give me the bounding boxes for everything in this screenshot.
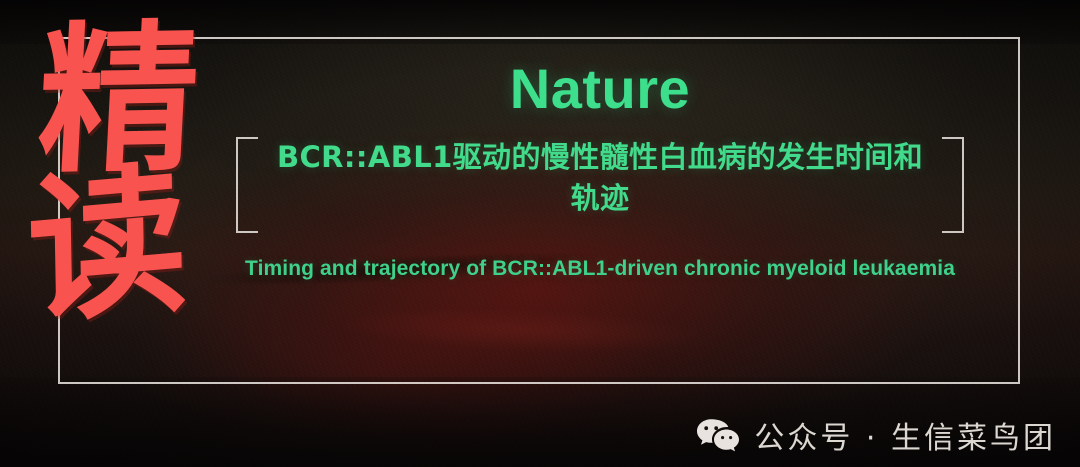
paper-title-english: Timing and trajectory of BCR::ABL1-drive… xyxy=(210,253,990,285)
bracket-left-icon xyxy=(236,137,258,233)
calligraphy-stamp: 精 读 xyxy=(10,17,207,458)
wechat-account-name: 公众号 · 生信菜鸟团 xyxy=(754,413,1056,457)
calligraphy-char-du: 读 xyxy=(10,159,202,332)
journal-name: Nature xyxy=(210,60,990,119)
wechat-account-bar: 公众号 · 生信菜鸟团 xyxy=(695,413,1056,457)
poster-content: Nature BCR::ABL1驱动的慢性髓性白血病的发生时间和轨迹 Timin… xyxy=(210,60,990,285)
wechat-logo-icon xyxy=(695,417,741,453)
poster-canvas: 精 读 Nature BCR::ABL1驱动的慢性髓性白血病的发生时间和轨迹 T… xyxy=(0,0,1080,467)
paper-title-chinese: BCR::ABL1驱动的慢性髓性白血病的发生时间和轨迹 xyxy=(274,137,926,219)
title-bracket-row: BCR::ABL1驱动的慢性髓性白血病的发生时间和轨迹 xyxy=(210,137,990,219)
bracket-right-icon xyxy=(942,137,964,233)
